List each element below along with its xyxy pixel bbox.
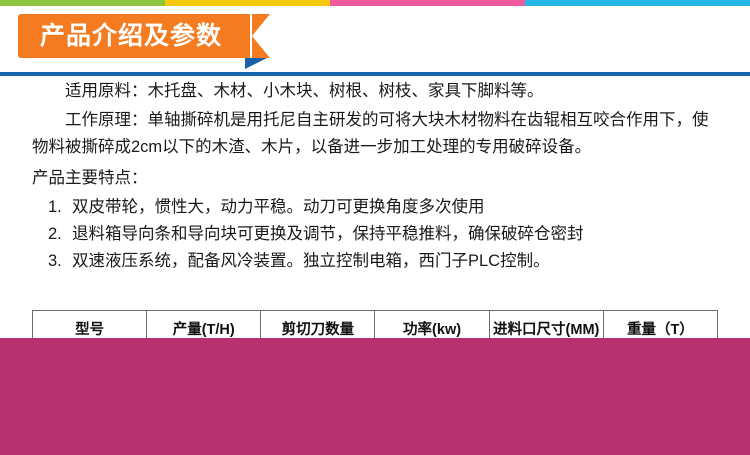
- list-item: 3. 双速液压系统，配备风冷装置。独立控制电箱，西门子PLC控制。: [32, 248, 718, 275]
- product-description: 适用原料：木托盘、木材、小木块、树根、树枝、家具下脚料等。 工作原理：单轴撕碎机…: [0, 78, 750, 275]
- top-color-bar-green: [0, 0, 165, 6]
- paragraph-material: 适用原料：木托盘、木材、小木块、树根、树枝、家具下脚料等。: [32, 78, 718, 105]
- header-underline: [0, 72, 750, 76]
- list-item-number: 3.: [48, 248, 62, 275]
- section-header-banner: 产品介绍及参数: [18, 14, 250, 58]
- list-item-text: 双皮带轮，惯性大，动力平稳。动刀可更换角度多次使用: [72, 198, 485, 216]
- product-detail-page: 产品介绍及参数 适用原料：木托盘、木材、小木块、树根、树枝、家具下脚料等。 工作…: [0, 0, 750, 455]
- section-header: 产品介绍及参数: [0, 14, 750, 62]
- page-title: 产品介绍及参数: [40, 24, 222, 49]
- pink-overlay-panel: [0, 338, 750, 455]
- features-title: 产品主要特点：: [32, 165, 718, 192]
- list-item: 1. 双皮带轮，惯性大，动力平稳。动刀可更换角度多次使用: [32, 194, 718, 221]
- top-color-bar-yellow: [165, 0, 330, 6]
- list-item-number: 2.: [48, 221, 62, 248]
- list-item-number: 1.: [48, 194, 62, 221]
- top-color-bar-cyan: [525, 0, 750, 6]
- list-item: 2. 退料箱导向条和导向块可更换及调节，保持平稳推料，确保破碎仓密封: [32, 221, 718, 248]
- list-item-text: 双速液压系统，配备风冷装置。独立控制电箱，西门子PLC控制。: [72, 252, 550, 270]
- paragraph-principle: 工作原理：单轴撕碎机是用托尼自主研发的可将大块木材物料在齿辊相互咬合作用下，使物…: [32, 107, 718, 161]
- features-list: 1. 双皮带轮，惯性大，动力平稳。动刀可更换角度多次使用 2. 退料箱导向条和导…: [32, 194, 718, 275]
- top-color-bar: [0, 0, 750, 6]
- list-item-text: 退料箱导向条和导向块可更换及调节，保持平稳推料，确保破碎仓密封: [72, 225, 584, 243]
- header-arrow-shape: [252, 14, 270, 58]
- top-color-bar-pink: [330, 0, 525, 6]
- header-ribbon-fold: [245, 58, 267, 69]
